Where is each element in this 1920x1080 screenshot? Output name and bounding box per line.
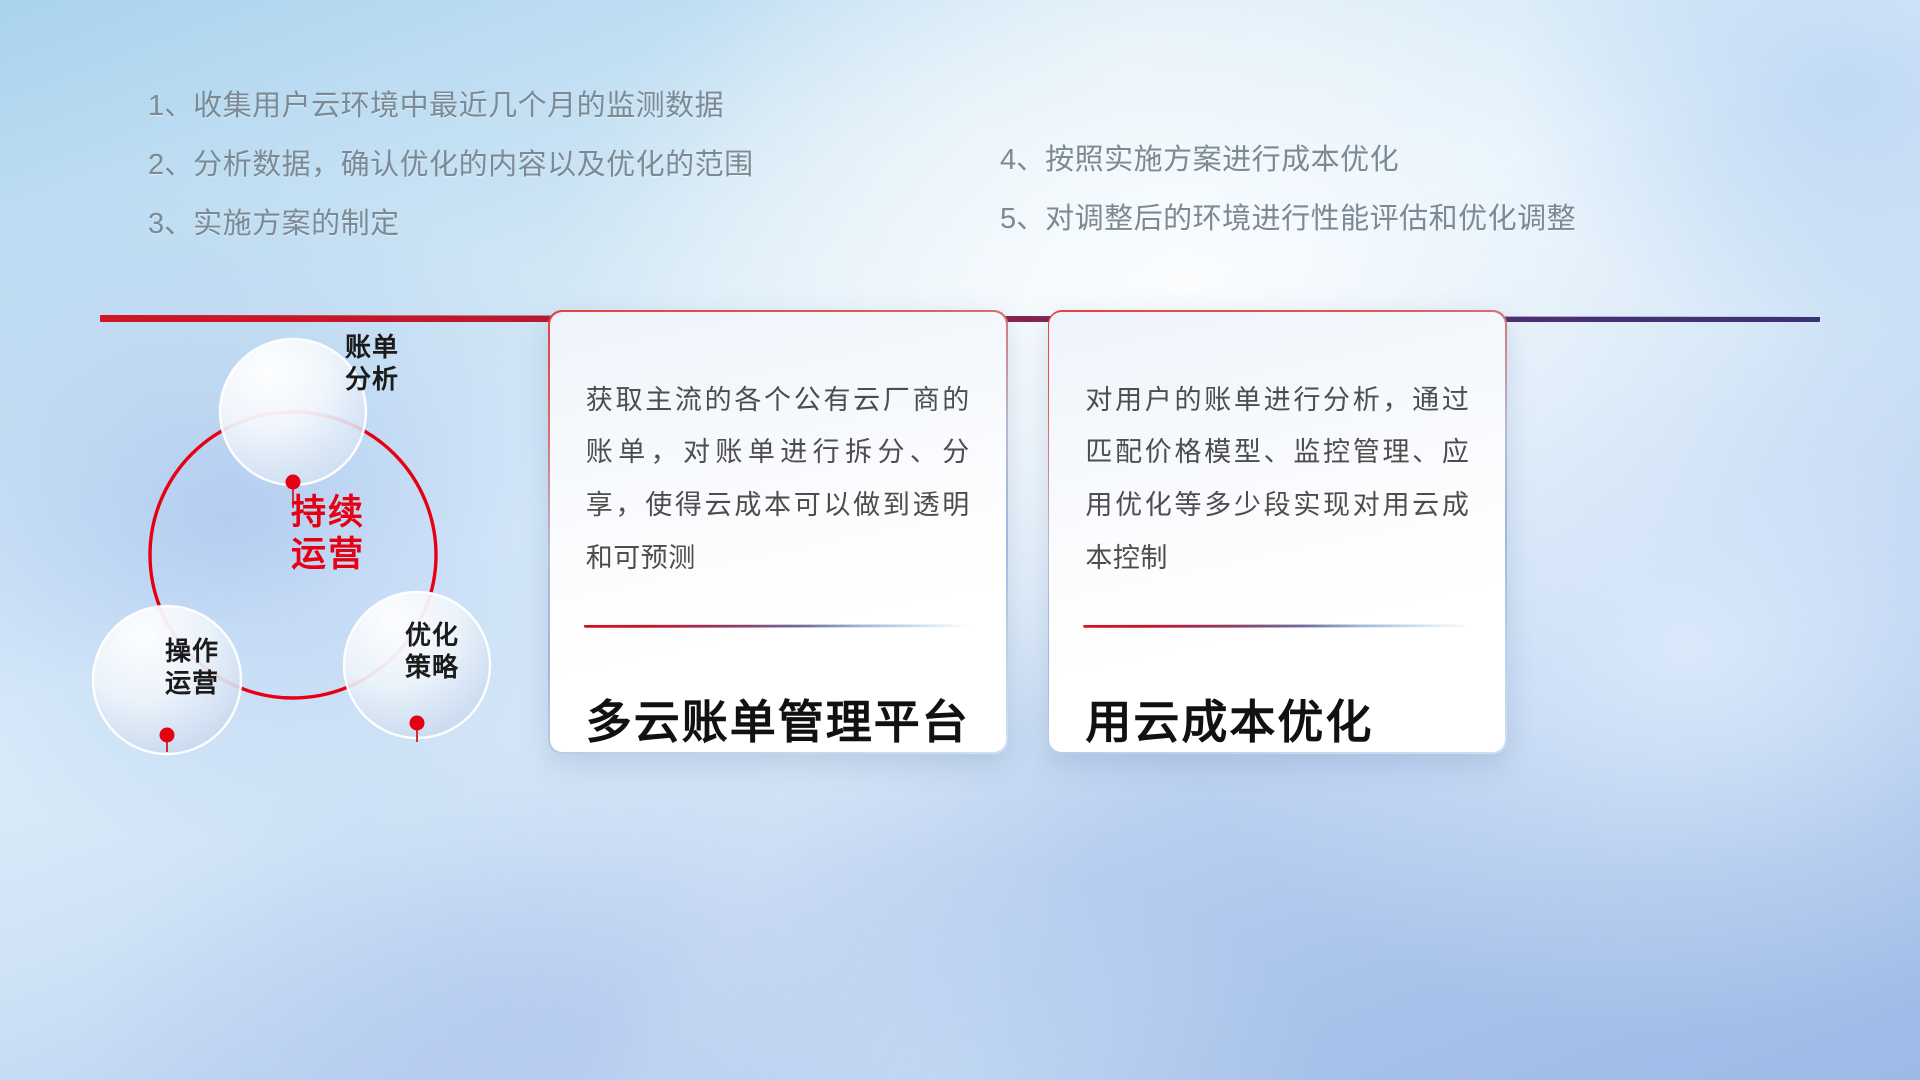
diagram-node-label-optimization-strategy: 优化 策略 <box>362 620 502 683</box>
feature-card-description: 获取主流的各个公有云厂商的账单，对账单进行拆分、分享，使得云成本可以做到透明和可… <box>550 312 1006 585</box>
list-item: 1、收集用户云环境中最近几个月的监测数据 <box>148 92 754 121</box>
list-item-number: 3、 <box>148 208 193 240</box>
list-item: 5、对调整后的环境进行性能评估和优化调整 <box>1000 205 1576 234</box>
diagram-center-label-line2: 运营 <box>248 534 408 576</box>
list-item-text: 收集用户云环境中最近几个月的监测数据 <box>193 90 724 122</box>
diagram-node-label-line2: 运营 <box>122 668 262 700</box>
diagram-node-label-operations: 操作 运营 <box>122 636 262 699</box>
node-dot-top <box>286 475 301 490</box>
node-dot-bottom-left <box>160 728 175 743</box>
list-item: 4、按照实施方案进行成本优化 <box>1000 146 1576 175</box>
diagram-node-label-line1: 账单 <box>302 332 442 364</box>
list-item-text: 实施方案的制定 <box>193 208 400 240</box>
diagram-node-label-line1: 优化 <box>362 620 502 652</box>
process-steps-right-column: 4、按照实施方案进行成本优化 5、对调整后的环境进行性能评估和优化调整 <box>1000 146 1576 264</box>
list-item-number: 2、 <box>148 149 193 181</box>
continuous-operation-diagram: 账单 分析 操作 运营 优化 策略 持续 运营 <box>80 280 560 800</box>
process-steps-list: 1、收集用户云环境中最近几个月的监测数据 2、分析数据，确认优化的内容以及优化的… <box>0 0 1920 300</box>
feature-card-title: 用云成本优化 <box>1049 686 1505 752</box>
feature-card-inner: 对用户的账单进行分析，通过匹配价格模型、监控管理、应用优化等多少段实现对用云成本… <box>1049 312 1505 752</box>
list-item-number: 4、 <box>1000 144 1045 176</box>
diagram-center-label: 持续 运营 <box>248 492 408 576</box>
list-item-number: 5、 <box>1000 203 1045 235</box>
feature-card-divider <box>584 624 972 627</box>
list-item-text: 对调整后的环境进行性能评估和优化调整 <box>1045 203 1576 235</box>
diagram-node-label-line1: 操作 <box>122 636 262 668</box>
feature-card-title: 多云账单管理平台 <box>550 686 1006 752</box>
list-item: 2、分析数据，确认优化的内容以及优化的范围 <box>148 151 754 180</box>
feature-cards: 获取主流的各个公有云厂商的账单，对账单进行拆分、分享，使得云成本可以做到透明和可… <box>548 310 1878 770</box>
list-item-text: 分析数据，确认优化的内容以及优化的范围 <box>193 149 754 181</box>
diagram-node-label-line2: 策略 <box>362 652 502 684</box>
node-dot-bottom-right <box>410 716 425 731</box>
feature-card-multicloud-billing[interactable]: 获取主流的各个公有云厂商的账单，对账单进行拆分、分享，使得云成本可以做到透明和可… <box>548 310 1008 754</box>
feature-card-inner: 获取主流的各个公有云厂商的账单，对账单进行拆分、分享，使得云成本可以做到透明和可… <box>550 312 1006 752</box>
list-item-number: 1、 <box>148 90 193 122</box>
diagram-node-label-line2: 分析 <box>302 364 442 396</box>
diagram-center-label-line1: 持续 <box>248 492 408 534</box>
feature-card-divider <box>1083 624 1471 627</box>
list-item: 3、实施方案的制定 <box>148 210 754 239</box>
process-steps-left-column: 1、收集用户云环境中最近几个月的监测数据 2、分析数据，确认优化的内容以及优化的… <box>148 92 754 269</box>
feature-card-description: 对用户的账单进行分析，通过匹配价格模型、监控管理、应用优化等多少段实现对用云成本… <box>1049 312 1505 585</box>
list-item-text: 按照实施方案进行成本优化 <box>1045 144 1399 176</box>
diagram-node-label-bill-analysis: 账单 分析 <box>302 332 442 395</box>
feature-card-cloud-cost-optimization[interactable]: 对用户的账单进行分析，通过匹配价格模型、监控管理、应用优化等多少段实现对用云成本… <box>1048 310 1508 754</box>
